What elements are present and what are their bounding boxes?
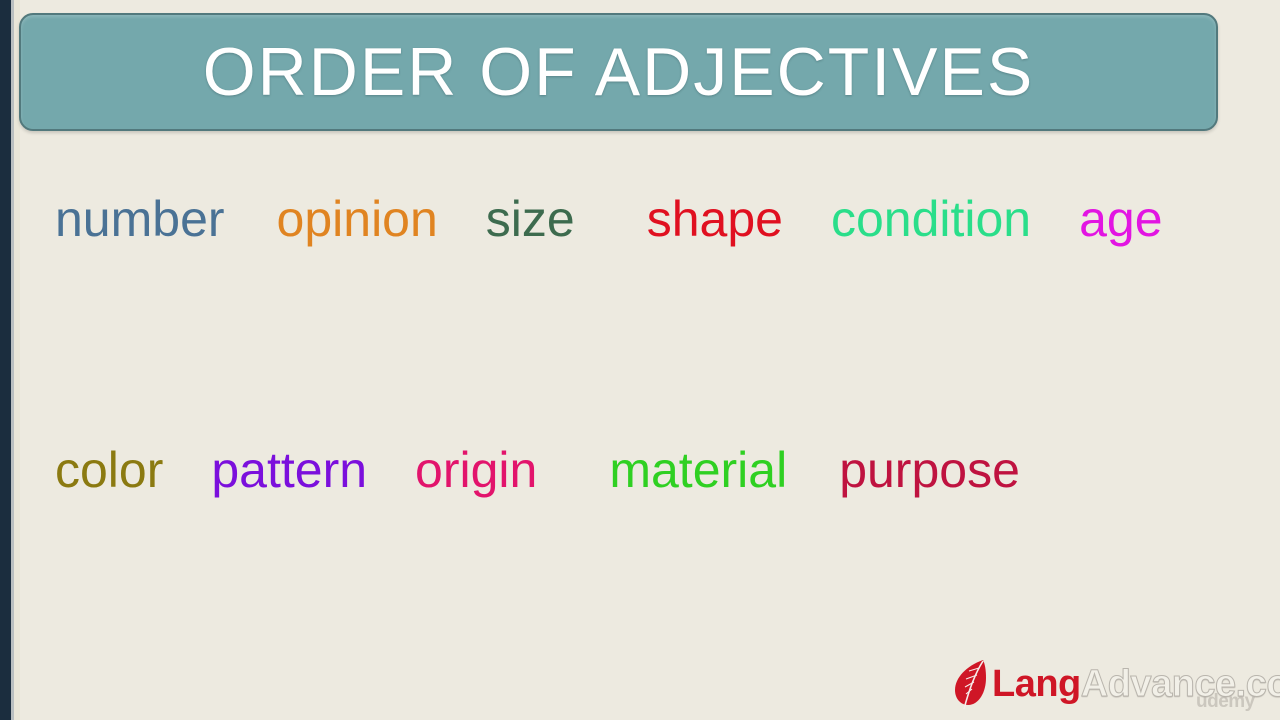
adjective-word-number: number [55, 192, 225, 247]
leaf-icon [952, 658, 988, 710]
adjective-row-1: numberopinionsizeshapeconditionage [55, 192, 1163, 247]
adjective-word-material: material [609, 443, 787, 498]
left-edge-strip [0, 0, 11, 720]
adjective-word-condition: condition [831, 192, 1031, 247]
title-banner: ORDER OF ADJECTIVES [19, 13, 1218, 131]
adjective-word-purpose: purpose [839, 443, 1020, 498]
adjective-word-origin: origin [415, 443, 537, 498]
adjective-row-2: colorpatternoriginmaterialpurpose [55, 443, 1020, 498]
adjective-word-color: color [55, 443, 163, 498]
slide-canvas: ORDER OF ADJECTIVES numberopinionsizesha… [0, 0, 1280, 720]
adjective-word-pattern: pattern [211, 443, 367, 498]
adjective-word-age: age [1079, 192, 1162, 247]
adjective-word-shape: shape [647, 192, 783, 247]
adjective-word-opinion: opinion [277, 192, 438, 247]
brand-logo: Lang Advance.com udemy [952, 656, 1280, 712]
logo-brand-primary: Lang [992, 665, 1081, 703]
adjective-word-size: size [486, 192, 575, 247]
page-title: ORDER OF ADJECTIVES [203, 38, 1034, 106]
logo-watermark: udemy [1196, 692, 1255, 711]
